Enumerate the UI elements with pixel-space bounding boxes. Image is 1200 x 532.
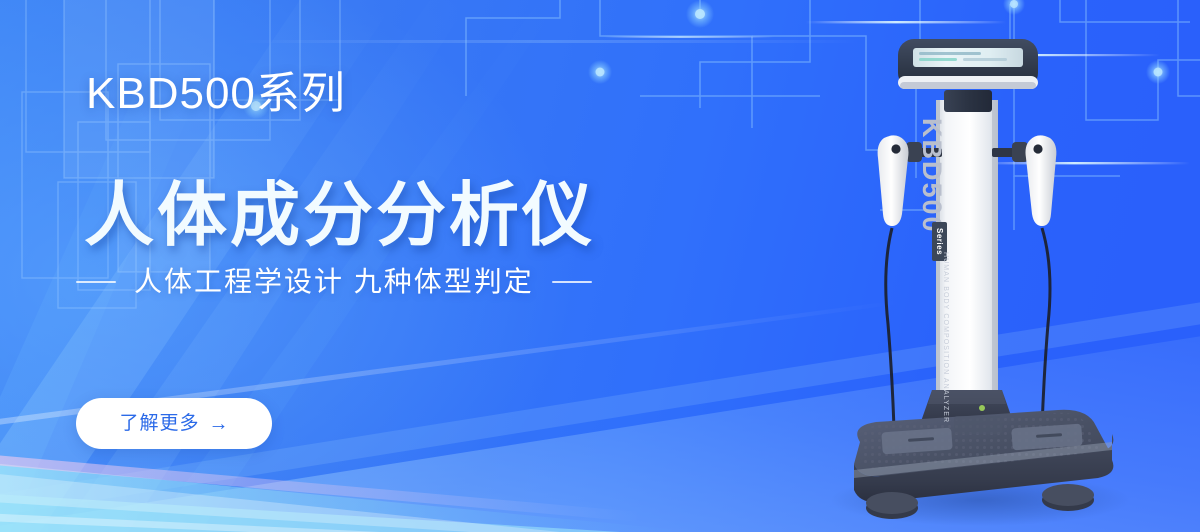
device-description-label: HUMAN BODY COMPOSITION ANALYZER	[942, 252, 949, 423]
hero-banner: KBD500 Series HUMAN BODY COMPOSITION ANA…	[0, 0, 1200, 532]
learn-more-button[interactable]: 了解更多 →	[76, 398, 272, 449]
dash-right-icon	[552, 281, 592, 283]
arrow-right-icon: →	[209, 414, 229, 434]
dash-left-icon	[76, 281, 116, 283]
learn-more-label: 了解更多	[119, 414, 199, 433]
product-series-title: KBD500系列	[86, 72, 346, 116]
body-composition-analyzer-illustration	[820, 38, 1140, 528]
subtitle-row: 人体工程学设计 九种体型判定	[76, 268, 592, 296]
device-brand-label: KBD500	[916, 118, 947, 234]
page-title: 人体成分分析仪	[84, 180, 595, 250]
subtitle-text: 人体工程学设计 九种体型判定	[134, 268, 534, 296]
hero-text-block: KBD500系列 人体成分分析仪 人体工程学设计 九种体型判定 了解更多 →	[0, 0, 700, 532]
